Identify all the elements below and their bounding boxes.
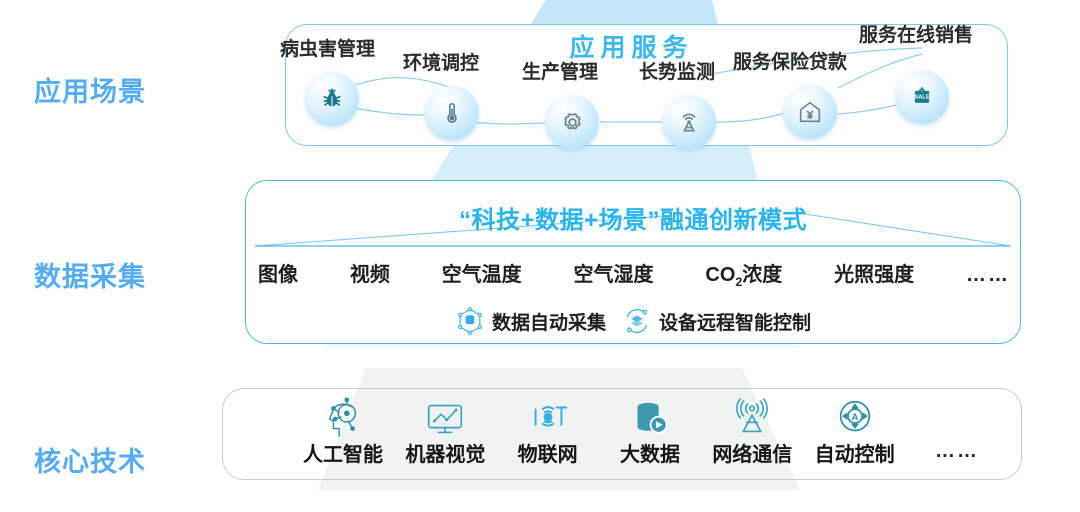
bubble-background [783,85,837,139]
data-features-row: 数据自动采集 设备远程智能控制 [245,306,1021,336]
tech-item-label: 人工智能 [303,445,383,465]
app-node-label: 生产管理 [522,63,598,82]
tech-item-auto-control[interactable]: A 自动控制 [812,396,898,465]
co2-formula: CO [705,264,735,286]
app-node-label: 服务保险贷款 [733,53,847,72]
tech-item-label: 物联网 [518,445,578,465]
tech-item-label: 网络通信 [712,445,792,465]
data-tagline: “科技+数据+场景”融通创新模式 [245,200,1021,235]
gear-icon [559,109,586,136]
application-service-title: 应用服务 [546,28,711,64]
iot-icon [525,396,571,442]
data-item: 空气温度 [442,258,522,287]
svg-text:A: A [851,412,858,423]
bubble-background [545,95,599,149]
tech-item-machine-vision[interactable]: 机器视觉 [402,396,488,465]
database-network-icon [455,306,485,336]
infographic-canvas: 应用场景 数据采集 核心技术 病虫害管理 [0,0,1080,512]
data-item: 空气湿度 [574,258,654,287]
bug-icon [319,86,345,112]
bigdata-cylinder-icon [627,396,673,442]
tech-item-ai[interactable]: 人工智能 [300,396,386,465]
tech-item-label: 机器视觉 [405,445,485,465]
ai-head-icon [320,396,366,442]
tech-item-label: 大数据 [620,445,680,465]
tech-item-bigdata[interactable]: 大数据 [607,396,693,465]
bubble-background [305,72,359,126]
app-node-label: 环境调控 [403,54,479,73]
data-feature-remote-control[interactable]: 设备远程智能控制 [622,306,811,336]
data-items-row: 图像 视频 空气温度 空气湿度 CO2浓度 光照强度 …… [258,258,1010,289]
bubble-background [662,95,716,149]
monitor-chart-icon [422,396,468,442]
signal-tower-icon [675,108,703,136]
co2-tail: 浓度 [742,264,782,286]
data-feature-auto-collection[interactable]: 数据自动采集 [455,306,606,336]
svg-text:SALE: SALE [914,95,929,101]
tech-item-iot[interactable]: 物联网 [505,396,591,465]
house-yuan-icon [796,98,824,126]
auto-control-icon: A [832,396,878,442]
technology-items-row: 人工智能 机器视觉 [300,396,1000,465]
bubble-background [425,86,479,140]
tech-item-network-communication[interactable]: 网络通信 [709,396,795,465]
data-feature-label: 数据自动采集 [492,308,606,335]
technology-ellipsis: …… [914,440,1000,465]
sale-tag-icon: SALE [909,84,935,110]
data-item: 光照强度 [834,258,914,287]
app-node-label: 服务在线销售 [859,26,973,45]
data-item: 视频 [350,258,390,287]
data-item-co2: CO2浓度 [705,258,782,289]
app-node-label: 长势监测 [639,63,715,82]
app-node-label: 病虫害管理 [280,40,375,59]
layers-network-icon [622,306,652,336]
thermometer-icon [439,100,465,126]
antenna-signal-icon [729,396,775,442]
row-label-data: 数据采集 [34,255,146,294]
data-feature-label: 设备远程智能控制 [659,308,811,335]
data-item: 图像 [258,258,298,287]
tech-item-label: 自动控制 [815,445,895,465]
data-item-ellipsis: …… [966,264,1010,287]
row-label-technology: 核心技术 [34,440,146,479]
bubble-background: SALE [895,70,949,124]
